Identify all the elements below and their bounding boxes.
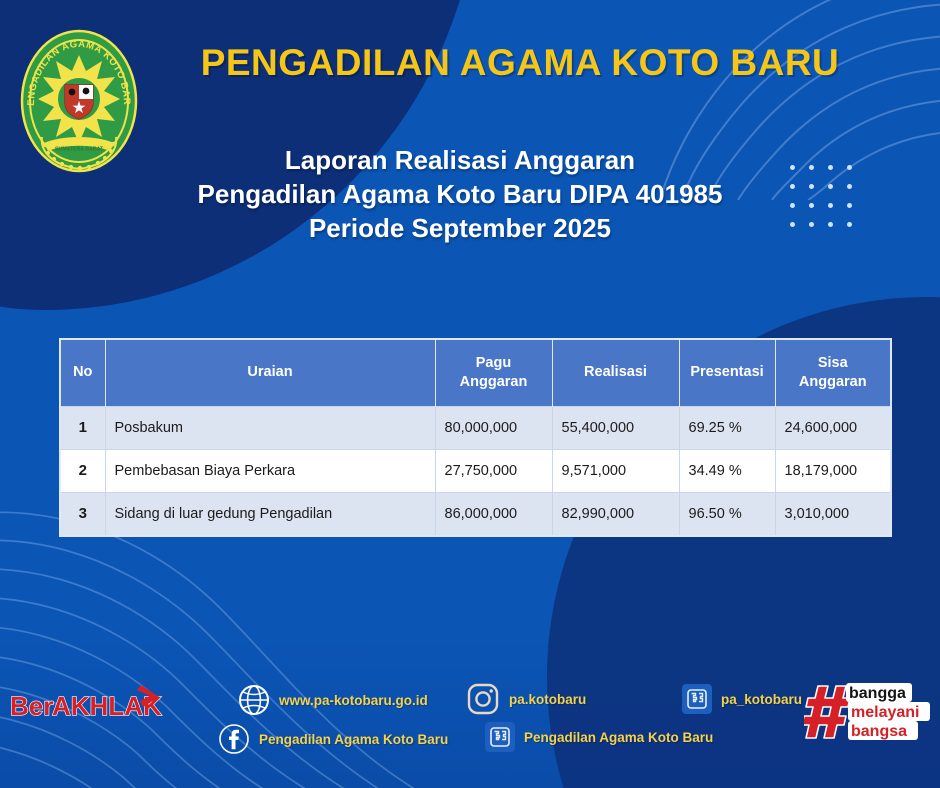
contact-facebook-label: Pengadilan Agama Koto Baru: [259, 732, 448, 747]
instagram-icon: [466, 682, 500, 716]
contact-youtube[interactable]: pa_kotobaru: [682, 684, 802, 714]
poster-subtitle: Laporan Realisasi Anggaran Pengadilan Ag…: [110, 143, 810, 245]
cell-uraian: Pembebasan Biaya Perkara: [105, 449, 435, 492]
col-header-presentasi: Presentasi: [679, 340, 775, 406]
subtitle-line-2: Pengadilan Agama Koto Baru DIPA 401985: [110, 177, 810, 211]
contact-website-label: www.pa-kotobaru.go.id: [279, 693, 428, 708]
poster-footer: Ber AKHLAK www.pa-kotobaru.go.id Pengadi…: [0, 670, 940, 788]
cell-uraian: Sidang di luar gedung Pengadilan: [105, 492, 435, 535]
table-row: 2 Pembebasan Biaya Perkara 27,750,000 9,…: [61, 449, 890, 492]
cell-sisa: 24,600,000: [775, 406, 890, 449]
col-header-uraian: Uraian: [105, 340, 435, 406]
col-header-pagu-anggaran: Pagu Anggaran: [435, 340, 552, 406]
berakhlak-wordmark-prefix: Ber: [10, 691, 53, 721]
cell-realisasi: 9,571,000: [552, 449, 679, 492]
cell-pagu: 27,750,000: [435, 449, 552, 492]
berakhlak-logo: Ber AKHLAK: [8, 683, 168, 729]
budget-realization-table: No Uraian Pagu Anggaran Realisasi Presen…: [59, 338, 892, 537]
facebook-icon: [218, 723, 250, 755]
col-header-sisa-line2: Anggaran: [799, 374, 867, 390]
cell-presentasi: 69.25 %: [679, 406, 775, 449]
cell-sisa: 3,010,000: [775, 492, 890, 535]
poster-canvas: PENGADILAN AGAMA KOTO BARU SUMATERA BARA…: [0, 0, 940, 788]
table-header-row: No Uraian Pagu Anggaran Realisasi Presen…: [61, 340, 890, 406]
globe-icon: [238, 684, 270, 716]
poster-title: PENGADILAN AGAMA KOTO BARU: [160, 42, 880, 84]
contact-instagram[interactable]: pa.kotobaru: [466, 682, 586, 716]
cell-pagu: 86,000,000: [435, 492, 552, 535]
cell-no: 1: [61, 406, 105, 449]
berakhlak-wordmark-main: AKHLAK: [52, 691, 162, 721]
tiktok-icon: [485, 722, 515, 752]
cell-no: 2: [61, 449, 105, 492]
cell-no: 3: [61, 492, 105, 535]
cell-pagu: 80,000,000: [435, 406, 552, 449]
bangga-line-3: bangsa: [851, 723, 907, 740]
col-header-realisasi: Realisasi: [552, 340, 679, 406]
cell-presentasi: 34.49 %: [679, 449, 775, 492]
cell-uraian: Posbakum: [105, 406, 435, 449]
bangga-line-1: bangga: [849, 685, 906, 702]
subtitle-line-1: Laporan Realisasi Anggaran: [110, 143, 810, 177]
cell-realisasi: 82,990,000: [552, 492, 679, 535]
bangga-melayani-bangsa-logo: bangga melayani bangsa: [804, 680, 932, 742]
contact-facebook[interactable]: Pengadilan Agama Koto Baru: [218, 723, 448, 755]
seal-banner-text: SUMATERA BARAT: [55, 147, 104, 153]
contact-youtube-label: pa_kotobaru: [721, 692, 802, 707]
cell-sisa: 18,179,000: [775, 449, 890, 492]
col-header-sisa-anggaran: Sisa Anggaran: [775, 340, 890, 406]
bangga-line-2: melayani: [851, 704, 919, 721]
col-header-sisa-line1: Sisa: [818, 355, 848, 371]
cell-realisasi: 55,400,000: [552, 406, 679, 449]
subtitle-line-3: Periode September 2025: [110, 211, 810, 245]
table-row: 1 Posbakum 80,000,000 55,400,000 69.25 %…: [61, 406, 890, 449]
contact-tiktok[interactable]: Pengadilan Agama Koto Baru: [485, 722, 713, 752]
contact-website[interactable]: www.pa-kotobaru.go.id: [238, 684, 428, 716]
table-row: 3 Sidang di luar gedung Pengadilan 86,00…: [61, 492, 890, 535]
youtube-icon: [682, 684, 712, 714]
contact-instagram-label: pa.kotobaru: [509, 692, 586, 707]
col-header-no: No: [61, 340, 105, 406]
bangga-hash-icon: [804, 686, 850, 738]
col-header-pagu-line1: Pagu: [476, 355, 511, 371]
cell-presentasi: 96.50 %: [679, 492, 775, 535]
col-header-pagu-line2: Anggaran: [460, 374, 528, 390]
contact-tiktok-label: Pengadilan Agama Koto Baru: [524, 730, 713, 745]
